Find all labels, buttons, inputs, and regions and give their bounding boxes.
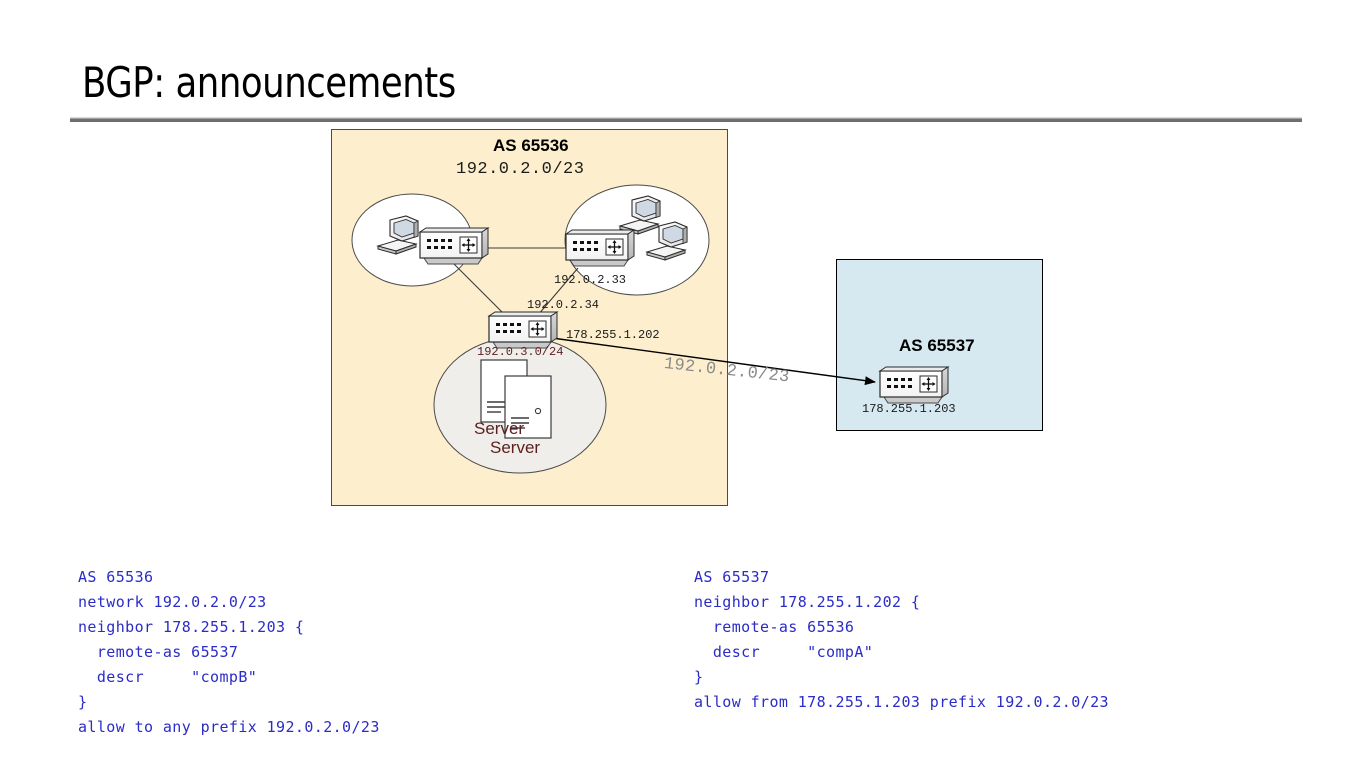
- title-divider: [70, 117, 1302, 122]
- server-label-a: Server: [474, 419, 524, 439]
- as-65536-prefix: 192.0.2.0/23: [456, 160, 584, 179]
- ip-label-178-255-1-202: 178.255.1.202: [566, 328, 660, 342]
- bgp-config-as65536: AS 65536 network 192.0.2.0/23 neighbor 1…: [78, 565, 380, 740]
- page-title: BGP: announcements: [82, 58, 456, 107]
- ip-label-192-0-2-33: 192.0.2.33: [554, 273, 626, 287]
- ip-label-178-255-1-203: 178.255.1.203: [862, 402, 956, 416]
- subnet-label-192-0-3-0: 192.0.3.0/24: [477, 345, 563, 359]
- bgp-config-as65537: AS 65537 neighbor 178.255.1.202 { remote…: [694, 565, 1109, 715]
- ip-label-192-0-2-34: 192.0.2.34: [527, 298, 599, 312]
- server-label-b: Server: [490, 438, 540, 458]
- as-65537-title: AS 65537: [899, 336, 975, 356]
- as-65536-title: AS 65536: [493, 136, 569, 156]
